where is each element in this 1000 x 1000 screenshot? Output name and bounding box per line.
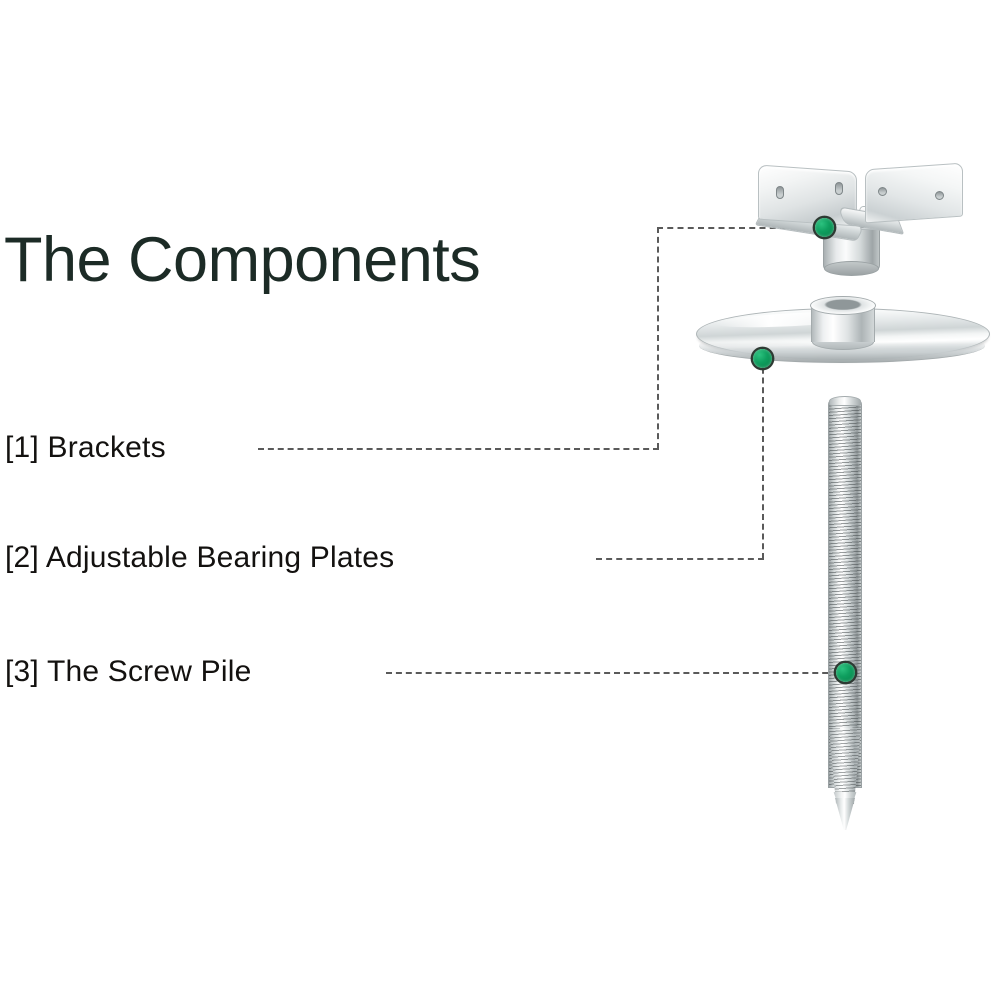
bracket-left-hole-1-icon xyxy=(776,186,784,199)
leader-line-bearing-plates-horizontal xyxy=(596,558,764,560)
bearing-plate-illustration xyxy=(693,300,993,380)
bearing-plate-hub-bore-icon xyxy=(810,296,876,315)
marker-dot-brackets xyxy=(815,218,834,237)
component-label-brackets: [1] Brackets xyxy=(5,430,166,466)
component-label-adjustable-bearing-plates: [2] Adjustable Bearing Plates xyxy=(5,540,394,576)
screw-pile-point-tip-icon xyxy=(835,798,855,830)
marker-dot-bearing-plate xyxy=(753,349,772,368)
brackets-illustration xyxy=(745,160,975,280)
bracket-left-hole-2-icon xyxy=(835,182,843,195)
component-label-the-screw-pile: [3] The Screw Pile xyxy=(5,654,252,690)
page-title: The Components xyxy=(4,222,480,298)
leader-line-brackets-horizontal-left xyxy=(258,448,659,450)
bracket-right-hole-2-icon xyxy=(935,191,944,200)
screw-pile-top-cap-icon xyxy=(829,396,861,406)
leader-line-bearing-plates-vertical xyxy=(762,358,764,559)
bracket-collar-bottom-icon xyxy=(824,261,879,276)
leader-line-screw-pile-horizontal xyxy=(386,672,848,674)
marker-dot-screw-pile xyxy=(836,663,855,682)
leader-line-brackets-vertical xyxy=(657,227,659,449)
components-diagram: The Components [1] Brackets [2] Adjustab… xyxy=(0,0,1000,1000)
bracket-right-hole-1-icon xyxy=(878,187,887,196)
screw-pile-illustration xyxy=(828,398,866,830)
